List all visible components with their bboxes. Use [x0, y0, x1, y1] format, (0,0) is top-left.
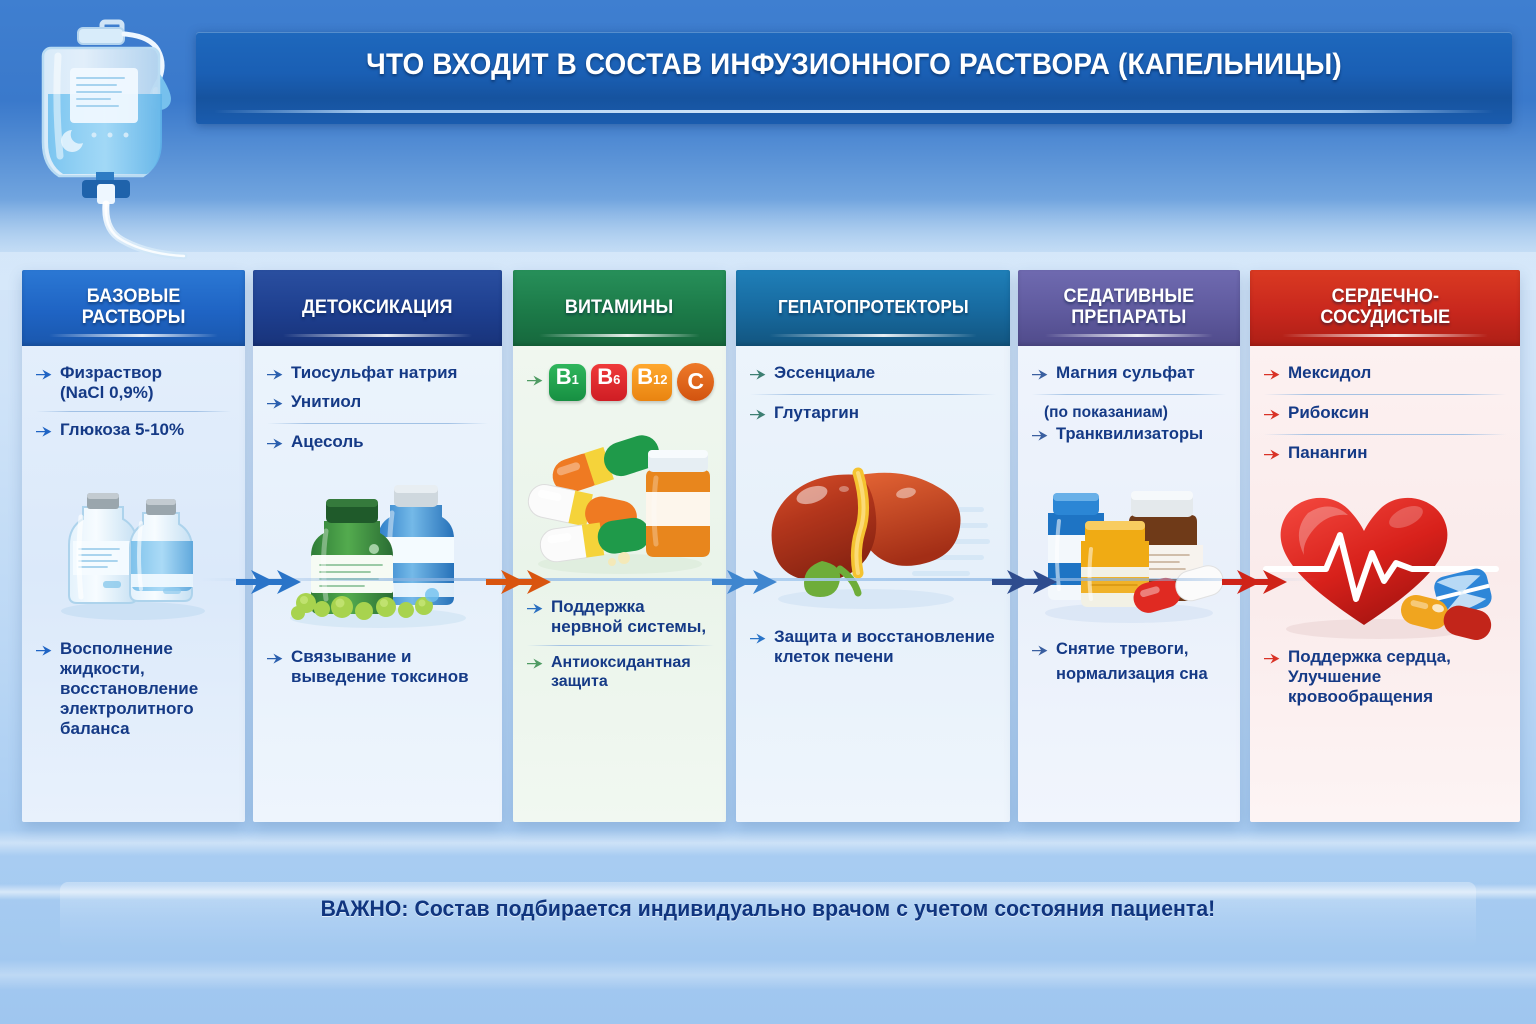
- vitamin-badge-b6-sub: 6: [613, 372, 620, 387]
- vitamin-badge-b12[interactable]: B12: [632, 364, 672, 401]
- arrow-bullet-icon: [750, 366, 767, 386]
- arrow-bullet-icon: [36, 366, 53, 386]
- benefit-item: Связывание и выведение токсинов: [265, 644, 492, 690]
- infographic-canvas: ЧТО ВХОДИТ В СОСТАВ ИНФУЗИОННОГО РАСТВОР…: [0, 0, 1536, 1024]
- list-item-label: Ацесоль: [291, 432, 490, 452]
- card-vitamins[interactable]: ВИТАМИНЫ B1 B6 B12: [513, 270, 726, 822]
- vitamin-badge-b6[interactable]: B6: [591, 364, 628, 401]
- heart-with-ecg-icon: [1250, 474, 1520, 644]
- benefit-item: Защита и восстановление клеток печени: [748, 624, 1000, 670]
- arrow-bullet-icon: [527, 372, 544, 392]
- arrow-bullet-icon: [1032, 640, 1049, 665]
- drug-list-detox: Тиосульфат натрия Унитиол Ацесоль: [265, 360, 490, 458]
- arrow-bullet-icon: [1264, 366, 1281, 386]
- arrow-bullet-icon: [36, 423, 53, 443]
- list-item-label: Мексидол: [1288, 363, 1508, 383]
- card-title-detox: ДЕТОКСИКАЦИЯ: [296, 298, 458, 319]
- benefit-label: Поддержка сердца, Улучшение кровообращен…: [1288, 647, 1510, 707]
- list-item[interactable]: Эссенциале: [748, 360, 998, 389]
- card-header-underline: [283, 334, 472, 337]
- card-header-underline: [769, 334, 977, 337]
- list-item-label: Панангин: [1288, 443, 1508, 463]
- connector-arrow-4: [992, 560, 1062, 609]
- list-item[interactable]: Панангин: [1262, 440, 1508, 469]
- card-header-sedatives: СЕДАТИВНЫЕ ПРЕПАРАТЫ: [1018, 270, 1240, 346]
- list-item[interactable]: Унитиол: [265, 389, 490, 418]
- list-item[interactable]: Транквилизаторы: [1030, 422, 1228, 450]
- vitamin-badge-c[interactable]: C: [677, 363, 714, 401]
- footer-band: ВАЖНО: Состав подбирается индивидуально …: [0, 862, 1536, 970]
- card-base-solutions[interactable]: БАЗОВЫЕ РАСТВОРЫ Физраствор (NaCl 0,9%): [22, 270, 245, 822]
- list-divider: [1032, 394, 1226, 395]
- list-item-label: Тиосульфат натрия: [291, 363, 490, 383]
- vitamin-badge-c-label: C: [687, 368, 704, 395]
- drug-list-hepatoprotectors: Эссенциале Глутаргин: [748, 360, 998, 429]
- benefit-label: Антиоксидантная защита: [551, 654, 716, 692]
- connector-arrow-3: [712, 560, 782, 609]
- vitamin-badge-b1[interactable]: B1: [549, 364, 586, 401]
- card-header-vitamins: ВИТАМИНЫ: [513, 270, 726, 346]
- arrow-bullet-icon: [1032, 366, 1049, 386]
- arrow-bullet-icon: [1264, 446, 1281, 466]
- card-header-underline: [1282, 334, 1487, 337]
- card-header-cardiovascular: СЕРДЕЧНО- СОСУДИСТЫЕ: [1250, 270, 1520, 346]
- arrow-bullet-icon: [1264, 650, 1281, 670]
- benefit-sedatives: Снятие тревоги, нормализация сна: [1030, 634, 1230, 690]
- card-detox[interactable]: ДЕТОКСИКАЦИЯ Тиосульфат натрия: [253, 270, 502, 822]
- drug-list-base-solutions: Физраствор (NaCl 0,9%) Глюкоза 5-10%: [34, 360, 233, 446]
- list-item-label: Магния сульфат: [1056, 363, 1228, 383]
- benefit-item: Снятие тревоги, нормализация сна: [1030, 634, 1230, 690]
- card-header-hepatoprotectors: ГЕПАТОПРОТЕКТОРЫ: [736, 270, 1010, 346]
- card-title-base-solutions: БАЗОВЫЕ РАСТВОРЫ: [76, 287, 191, 328]
- benefit-base-solutions: Восполнение жидкости, восстановление эле…: [34, 636, 235, 742]
- iv-drip-bag-icon: [18, 8, 218, 270]
- list-item-label: Физраствор (NaCl 0,9%): [60, 363, 233, 403]
- benefit-detox: Связывание и выведение токсинов: [265, 644, 492, 690]
- benefit-item: Поддержка сердца, Улучшение кровообращен…: [1262, 644, 1510, 710]
- connector-arrow-1: [236, 560, 306, 609]
- card-sedatives[interactable]: СЕДАТИВНЫЕ ПРЕПАРАТЫ Магния сульфат (по …: [1018, 270, 1240, 822]
- card-title-cardiovascular: СЕРДЕЧНО- СОСУДИСТЫЕ: [1314, 287, 1455, 328]
- arrow-bullet-icon: [527, 657, 544, 676]
- card-cardiovascular[interactable]: СЕРДЕЧНО- СОСУДИСТЫЕ Мексидол: [1250, 270, 1520, 822]
- arrow-bullet-icon: [267, 366, 284, 386]
- list-item-label: Транквилизаторы: [1056, 425, 1228, 444]
- arrow-bullet-icon: [750, 630, 767, 650]
- drug-list-sedatives: Магния сульфат (по показаниам) Транквили…: [1030, 360, 1228, 451]
- list-item[interactable]: Магния сульфат: [1030, 360, 1228, 389]
- card-header-underline: [1045, 334, 1214, 337]
- arrow-bullet-icon: [36, 642, 53, 662]
- benefit-item: Антиоксидантная защита: [525, 651, 716, 695]
- list-item[interactable]: Тиосульфат натрия: [265, 360, 490, 389]
- connector-arrow-5: [1222, 560, 1292, 609]
- benefit-label: Поддержка нервной системы,: [551, 597, 716, 637]
- list-item[interactable]: Рибоксин: [1262, 400, 1508, 429]
- vitamin-badge-b12-label: B: [637, 364, 653, 390]
- vitamin-badge-b12-sub: 12: [653, 372, 667, 387]
- page-title: ЧТО ВХОДИТ В СОСТАВ ИНФУЗИОННОГО РАСТВОР…: [242, 48, 1466, 82]
- vitamin-badge-b1-sub: 1: [572, 372, 579, 387]
- two-glass-vials-icon: [22, 466, 245, 626]
- background-sheen-1: [0, 830, 1536, 856]
- list-item[interactable]: Глутаргин: [748, 400, 998, 429]
- card-title-hepatoprotectors: ГЕПАТОПРОТЕКТОРЫ: [772, 298, 974, 317]
- vitamin-badge-b1-label: B: [556, 364, 572, 390]
- banner-divider: [214, 110, 1494, 113]
- arrow-bullet-icon: [267, 395, 284, 415]
- benefit-label: Снятие тревоги, нормализация сна: [1056, 637, 1230, 687]
- arrow-bullet-icon: [750, 406, 767, 426]
- card-body-base-solutions: Физраствор (NaCl 0,9%) Глюкоза 5-10%: [22, 346, 245, 822]
- capsules-and-pill-bottle-icon: [513, 408, 726, 583]
- list-item[interactable]: Физраствор (NaCl 0,9%): [34, 360, 233, 406]
- list-item[interactable]: Глюкоза 5-10%: [34, 417, 233, 446]
- list-item[interactable]: Мексидол: [1262, 360, 1508, 389]
- list-divider: [1264, 434, 1506, 435]
- category-cards: БАЗОВЫЕ РАСТВОРЫ Физраствор (NaCl 0,9%): [0, 270, 1536, 822]
- vitamin-badge-row: B1 B6 B12 C: [525, 360, 714, 404]
- list-item-note: (по показаниам): [1030, 400, 1228, 422]
- list-item[interactable]: Ацесоль: [265, 429, 490, 458]
- benefit-label: Восполнение жидкости, восстановление эле…: [60, 639, 235, 739]
- card-header-detox: ДЕТОКСИКАЦИЯ: [253, 270, 502, 346]
- list-item-label: Глутаргин: [774, 403, 998, 423]
- list-item-label: Рибоксин: [1288, 403, 1508, 423]
- benefit-item: Восполнение жидкости, восстановление эле…: [34, 636, 235, 742]
- card-hepatoprotectors[interactable]: ГЕПАТОПРОТЕКТОРЫ Эссенциале: [736, 270, 1010, 822]
- drug-list-cardiovascular: Мексидол Рибоксин Панангин: [1262, 360, 1508, 469]
- list-divider: [1264, 394, 1506, 395]
- list-item-label: Унитиол: [291, 392, 490, 412]
- card-title-vitamins: ВИТАМИНЫ: [560, 298, 680, 319]
- card-header-underline: [49, 334, 219, 337]
- list-item-label: Глюкоза 5-10%: [60, 420, 233, 440]
- list-divider: [267, 423, 488, 424]
- arrow-bullet-icon: [267, 435, 284, 455]
- vitamin-badge-b6-label: B: [597, 364, 613, 390]
- card-header-underline: [539, 334, 701, 337]
- benefit-cardiovascular: Поддержка сердца, Улучшение кровообращен…: [1262, 644, 1510, 710]
- list-divider: [36, 411, 231, 412]
- benefit-label: Связывание и выведение токсинов: [291, 647, 492, 687]
- connector-arrow-2: [486, 560, 556, 609]
- list-item-label: Эссенциале: [774, 363, 998, 383]
- list-divider: [527, 645, 714, 646]
- card-header-base-solutions: БАЗОВЫЕ РАСТВОРЫ: [22, 270, 245, 346]
- benefit-vitamins: Поддержка нервной системы, Антиоксидантн…: [525, 594, 716, 695]
- arrow-bullet-icon: [267, 650, 284, 670]
- footer-note: ВАЖНО: Состав подбирается индивидуально …: [31, 896, 1506, 922]
- arrow-bullet-icon: [1032, 428, 1049, 447]
- benefit-label: Защита и восстановление клеток печени: [774, 627, 1000, 667]
- arrow-bullet-icon: [1264, 406, 1281, 426]
- card-title-sedatives: СЕДАТИВНЫЕ ПРЕПАРАТЫ: [1058, 287, 1200, 328]
- benefit-hepatoprotectors: Защита и восстановление клеток печени: [748, 624, 1000, 670]
- list-divider: [750, 394, 996, 395]
- title-banner: ЧТО ВХОДИТ В СОСТАВ ИНФУЗИОННОГО РАСТВОР…: [196, 32, 1512, 124]
